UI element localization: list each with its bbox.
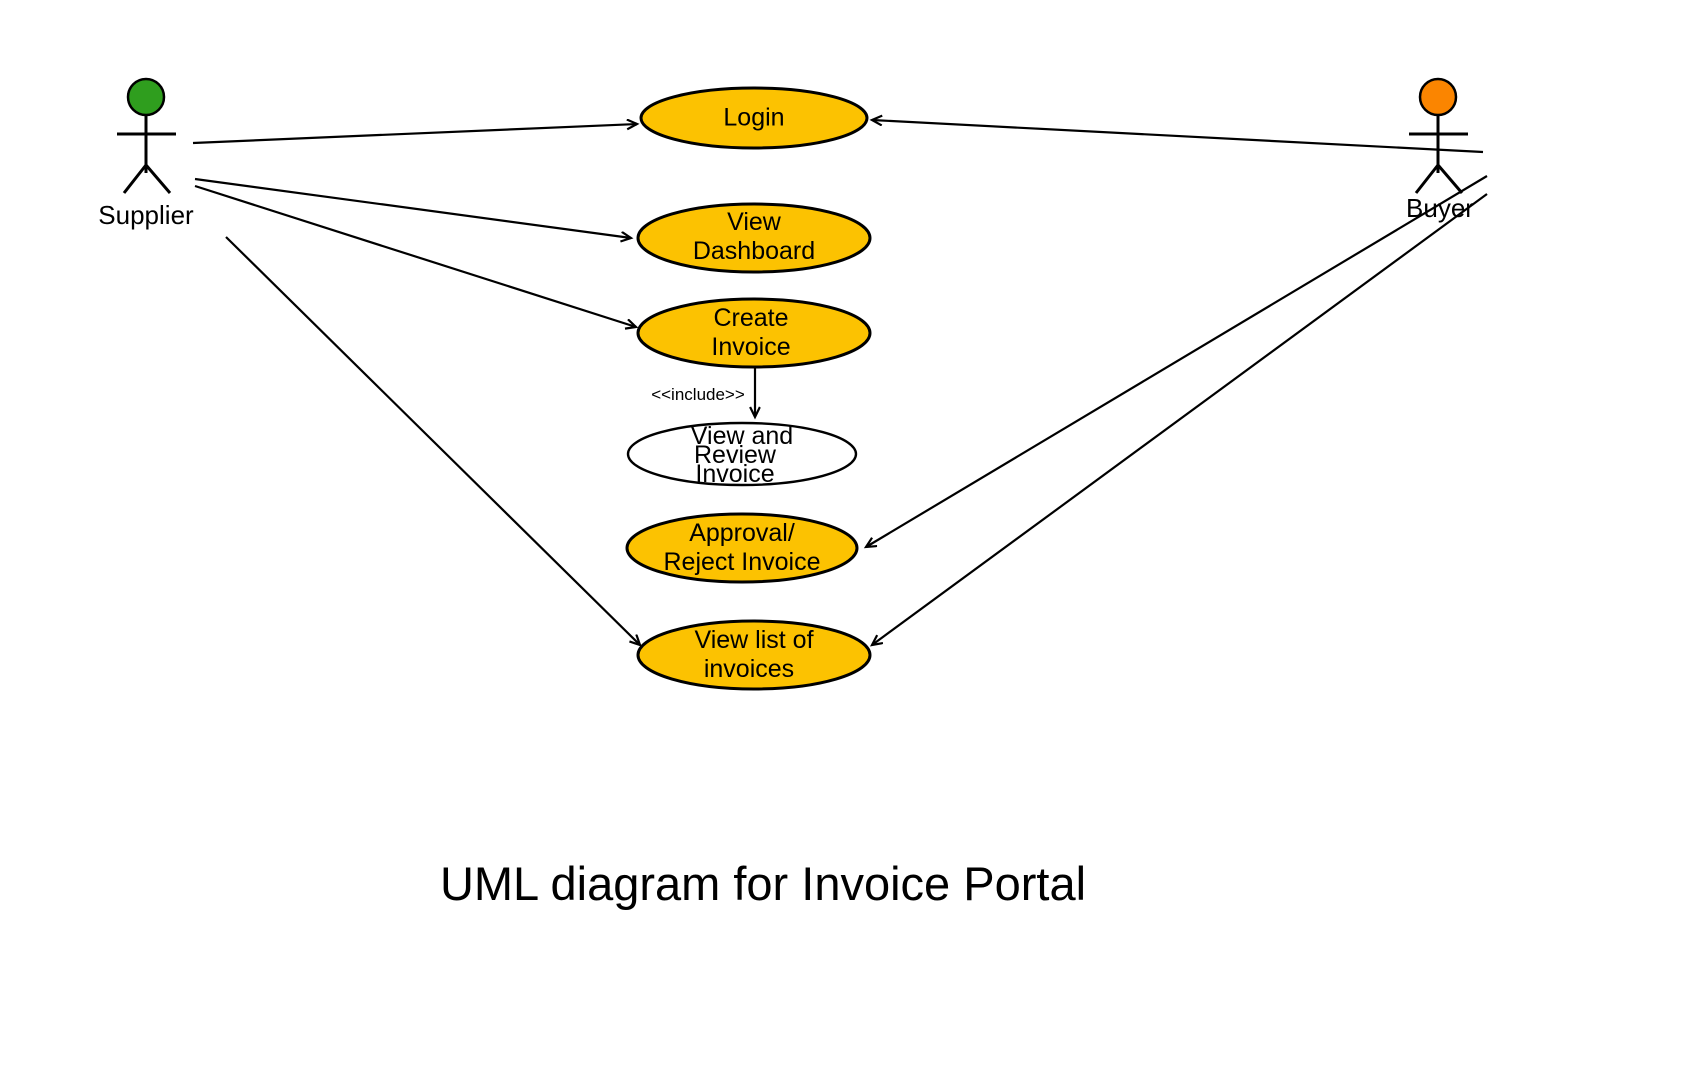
usecase-view-and-review-invoice[interactable]: View and Review Invoice	[628, 422, 856, 488]
actor-buyer-left-leg-icon	[1416, 165, 1438, 193]
usecase-create-invoice[interactable]: Create Invoice	[638, 299, 870, 367]
usecase-view-list-of-invoices-label-line1: View list of	[694, 626, 813, 654]
edge-buyer-approval-reject	[866, 176, 1487, 547]
usecase-login[interactable]: Login	[641, 88, 867, 148]
actor-buyer-label: Buyer	[1406, 193, 1474, 223]
diagram-canvas: <<include>> Login View Dashboard Create …	[0, 0, 1703, 1080]
edge-buyer-login	[872, 120, 1483, 152]
uml-use-case-diagram: <<include>> Login View Dashboard Create …	[0, 0, 1703, 1080]
usecase-approval-reject-invoice-label-line1: Approval/	[689, 519, 795, 547]
actor-buyer-head-icon	[1420, 79, 1456, 115]
actor-supplier-left-leg-icon	[124, 165, 146, 193]
usecase-view-list-of-invoices-label-line2: invoices	[704, 655, 794, 683]
edge-buyer-view-list	[872, 194, 1487, 645]
edge-supplier-view-dashboard	[195, 179, 631, 238]
usecase-view-list-of-invoices[interactable]: View list of invoices	[638, 621, 870, 689]
usecase-approval-reject-invoice-label-line2: Reject Invoice	[663, 548, 820, 576]
actor-supplier[interactable]: Supplier	[98, 79, 194, 230]
edge-supplier-login	[193, 124, 637, 143]
usecase-login-label: Login	[723, 104, 784, 132]
usecase-view-dashboard-label-line2: Dashboard	[693, 237, 815, 265]
usecase-create-invoice-label-line1: Create	[713, 304, 788, 332]
usecase-view-and-review-invoice-label-line3: Invoice	[695, 460, 774, 488]
usecase-view-dashboard-label-line1: View	[727, 208, 782, 236]
actor-supplier-head-icon	[128, 79, 164, 115]
usecase-create-invoice-label-line2: Invoice	[711, 333, 790, 361]
actor-supplier-label: Supplier	[98, 200, 194, 230]
actor-supplier-right-leg-icon	[146, 165, 170, 193]
diagram-title: UML diagram for Invoice Portal	[440, 857, 1086, 910]
usecase-view-dashboard[interactable]: View Dashboard	[638, 204, 870, 272]
include-stereotype-label: <<include>>	[651, 385, 745, 404]
edge-supplier-view-list	[226, 237, 640, 645]
usecase-approval-reject-invoice[interactable]: Approval/ Reject Invoice	[627, 514, 857, 582]
actor-buyer-right-leg-icon	[1438, 165, 1462, 193]
edge-supplier-create-invoice	[195, 186, 636, 327]
